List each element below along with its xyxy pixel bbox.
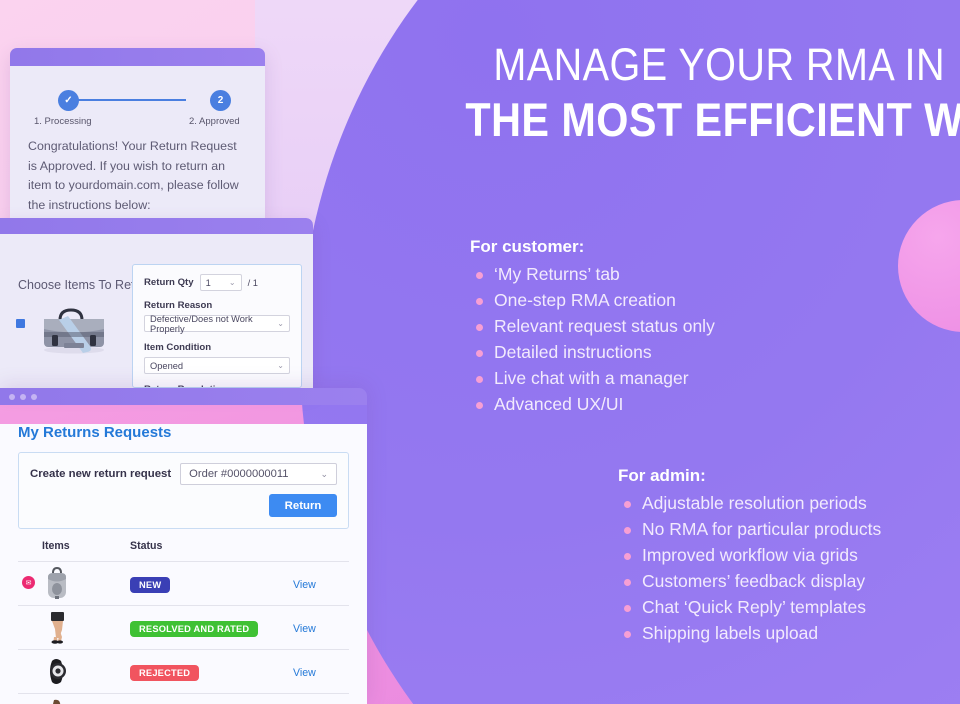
order-select-value: Order #0000000011: [189, 468, 288, 480]
status-badge: RESOLVED AND RATED: [130, 621, 258, 637]
customer-block-heading: For customer:: [470, 236, 715, 258]
envelope-icon[interactable]: ✉: [22, 576, 35, 589]
choose-items-card: Choose Items To Return Return Qty 1: [0, 218, 313, 388]
window-minimize-dot-icon[interactable]: [20, 394, 26, 400]
list-item: Relevant request status only: [470, 313, 715, 339]
table-header-row: Items Status: [18, 540, 349, 562]
cell-status: RESOLVED AND RATED: [130, 606, 293, 650]
list-item: Improved workflow via grids: [618, 542, 881, 568]
my-returns-requests-window: My Returns Requests Create new return re…: [0, 388, 367, 704]
table-row[interactable]: REJECTED View: [18, 650, 349, 694]
step-2-marker[interactable]: 2: [210, 90, 231, 111]
backpack-thumb-image: [42, 567, 72, 600]
list-item: Advanced UX/UI: [470, 391, 715, 417]
list-item: Chat ‘Quick Reply’ templates: [618, 594, 881, 620]
return-qty-max: / 1: [248, 278, 258, 288]
cell-status: REJECTED: [130, 650, 293, 694]
returns-table-head: Items Status: [18, 540, 349, 562]
watch-thumb-image: [42, 655, 72, 688]
return-reason-select[interactable]: Defective/Does not Work Properly ⌄: [144, 315, 290, 332]
list-item: ‘My Returns’ tab: [470, 261, 715, 287]
status-badge: NEW: [130, 577, 170, 593]
chevron-down-icon: ⌄: [229, 279, 236, 287]
view-link[interactable]: View: [293, 623, 316, 635]
item-select-checkbox[interactable]: [16, 319, 25, 328]
return-qty-row: Return Qty 1 ⌄ / 1: [144, 274, 290, 291]
headline-line-2: THE MOST EFFICIENT WAY: [465, 92, 945, 148]
table-row[interactable]: ✉ NEW: [18, 562, 349, 606]
admin-block-heading: For admin:: [618, 465, 881, 487]
chevron-down-icon: ⌄: [320, 469, 328, 480]
sweater-thumb-image: [42, 699, 72, 704]
return-qty-label: Return Qty: [144, 277, 194, 288]
list-item: No RMA for particular products: [618, 516, 881, 542]
list-item: Detailed instructions: [470, 339, 715, 365]
customer-feature-block: For customer: ‘My Returns’ tab One-step …: [470, 236, 715, 417]
headline-line-1: MANAGE YOUR RMA IN: [465, 38, 945, 92]
card-content: Choose Items To Return Return Qty 1: [0, 234, 313, 388]
chevron-down-icon: ⌄: [277, 362, 284, 370]
page-title: MANAGE YOUR RMA IN THE MOST EFFICIENT WA…: [400, 38, 945, 148]
step-1-check-icon[interactable]: ✓: [58, 90, 79, 111]
return-button[interactable]: Return: [269, 494, 337, 517]
create-return-request-panel: Create new return request Order #0000000…: [18, 452, 349, 529]
stepper-connector-line: [67, 99, 186, 101]
table-row[interactable]: UPDATED BY CUSTOMER View: [18, 694, 349, 704]
admin-feature-list: Adjustable resolution periods No RMA for…: [618, 490, 881, 646]
messenger-bag-image: [38, 302, 110, 354]
cell-item: ✉: [18, 562, 130, 606]
page-title: My Returns Requests: [18, 424, 349, 441]
cell-status: NEW: [130, 562, 293, 606]
order-select[interactable]: Order #0000000011 ⌄: [180, 463, 337, 485]
marketing-copy: MANAGE YOUR RMA IN THE MOST EFFICIENT WA…: [400, 0, 960, 704]
card-content: ✓ 2 1. Processing 2. Approved Congratula…: [10, 66, 265, 218]
item-condition-select[interactable]: Opened ⌄: [144, 357, 290, 374]
table-row[interactable]: RESOLVED AND RATED View: [18, 606, 349, 650]
list-item: One-step RMA creation: [470, 287, 715, 313]
step-2-label: 2. Approved: [189, 116, 240, 127]
create-request-label: Create new return request: [30, 468, 171, 480]
column-header-status: Status: [130, 540, 293, 562]
cell-item: [18, 694, 130, 704]
window-content: My Returns Requests Create new return re…: [0, 424, 367, 704]
card-titlebar: [0, 218, 313, 234]
item-condition-value: Opened: [150, 361, 183, 371]
cell-action: View: [293, 562, 349, 606]
shorts-thumb-image: [42, 611, 72, 644]
list-item: Shipping labels upload: [618, 620, 881, 646]
customer-feature-list: ‘My Returns’ tab One-step RMA creation R…: [470, 261, 715, 417]
list-item: Live chat with a manager: [470, 365, 715, 391]
return-qty-value: 1: [206, 278, 211, 288]
view-link[interactable]: View: [293, 579, 316, 591]
create-request-actions: Return: [30, 485, 337, 517]
approval-message: Congratulations! Your Return Request is …: [28, 137, 247, 215]
cell-item: [18, 606, 130, 650]
cell-item: [18, 650, 130, 694]
return-reason-value: Defective/Does not Work Properly: [150, 314, 277, 334]
cell-status: UPDATED BY CUSTOMER: [130, 694, 293, 704]
return-qty-select[interactable]: 1 ⌄: [200, 274, 242, 291]
create-request-row: Create new return request Order #0000000…: [30, 463, 337, 485]
poster-stage: MANAGE YOUR RMA IN THE MOST EFFICIENT WA…: [0, 0, 960, 704]
column-header-action: [293, 540, 349, 562]
cell-action: View: [293, 650, 349, 694]
window-titlebar: [0, 388, 367, 405]
admin-feature-block: For admin: Adjustable resolution periods…: [618, 465, 881, 646]
window-close-dot-icon[interactable]: [9, 394, 15, 400]
step-1-label: 1. Processing: [34, 116, 92, 127]
cell-action: View: [293, 694, 349, 704]
list-item: Adjustable resolution periods: [618, 490, 881, 516]
status-badge: REJECTED: [130, 665, 199, 681]
card-titlebar: [10, 48, 265, 66]
view-link[interactable]: View: [293, 667, 316, 679]
list-item: Customers’ feedback display: [618, 568, 881, 594]
item-condition-label: Item Condition: [144, 342, 290, 353]
returns-table: Items Status ✉: [18, 540, 349, 704]
return-details-panel: Return Qty 1 ⌄ / 1 Return Reason Defecti…: [132, 264, 302, 388]
cell-action: View: [293, 606, 349, 650]
chevron-down-icon: ⌄: [277, 320, 284, 328]
returns-table-body: ✉ NEW: [18, 562, 349, 704]
return-reason-label: Return Reason: [144, 300, 290, 311]
return-status-card: ✓ 2 1. Processing 2. Approved Congratula…: [10, 48, 265, 218]
progress-stepper: ✓ 2 1. Processing 2. Approved: [34, 86, 241, 130]
column-header-items: Items: [18, 540, 130, 562]
window-maximize-dot-icon[interactable]: [31, 394, 37, 400]
